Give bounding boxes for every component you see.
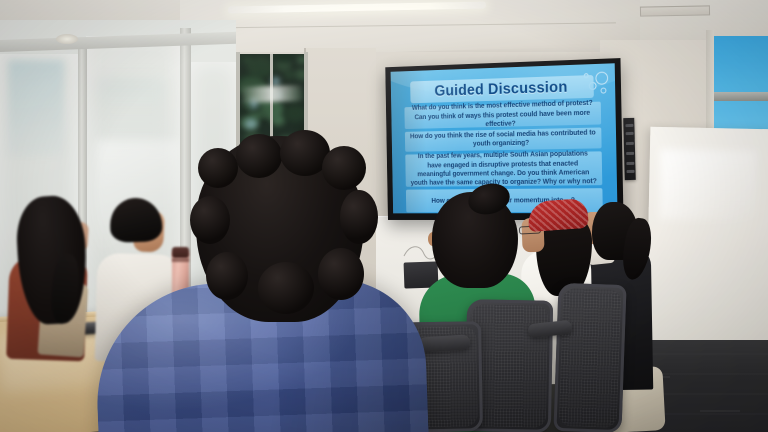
foliage-leaf — [284, 105, 306, 123]
foliage-leaf — [284, 70, 296, 79]
hair-curl — [318, 248, 364, 300]
bottle-ring — [172, 258, 189, 262]
hair-curl — [190, 196, 230, 244]
hair-curl — [322, 146, 366, 190]
hair-curl — [198, 148, 238, 188]
whiteboard-glare — [659, 149, 756, 221]
presentation-room-scene: Guided Discussion What do you think is t… — [0, 0, 768, 432]
foliage-sky-gap — [245, 119, 257, 128]
hair-curl — [236, 134, 282, 178]
foliage-leaf — [276, 54, 293, 63]
window-transom-bar — [712, 92, 768, 101]
ceiling-vent — [640, 5, 710, 16]
slide-question-3: In the past few years, multiple South As… — [405, 151, 603, 187]
office-chair[interactable] — [553, 283, 626, 432]
glass-tint — [8, 60, 64, 156]
chair-frame — [553, 283, 626, 432]
question-text: How do you think the rise of social medi… — [410, 128, 596, 150]
av-control-panel[interactable] — [623, 118, 636, 180]
bottle-cap[interactable] — [172, 247, 189, 258]
question-text: What do you think is the most effective … — [409, 99, 596, 131]
question-text: In the past few years, multiple South As… — [410, 150, 597, 189]
hair-curl — [206, 252, 248, 300]
hair-curl — [340, 190, 378, 244]
slide-question-2: How do you think the rise of social medi… — [404, 127, 602, 151]
slide-question-1: What do you think is the most effective … — [404, 102, 602, 129]
window-glare — [240, 85, 305, 103]
slide-title: Guided Discussion — [434, 78, 567, 100]
hair-curl — [258, 262, 314, 314]
recessed-ceiling-light — [56, 34, 78, 44]
